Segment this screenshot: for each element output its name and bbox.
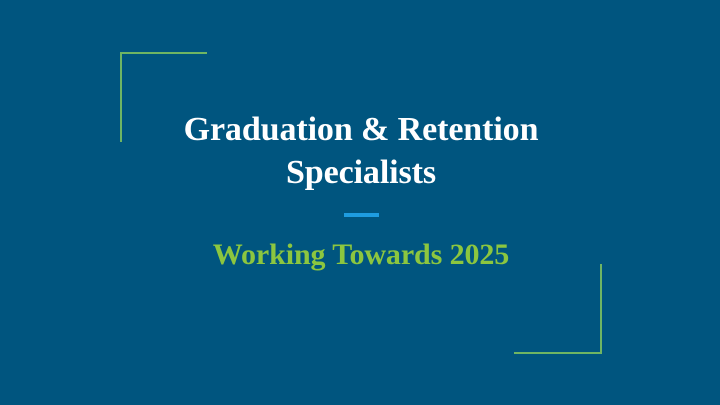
page-subtitle: Working Towards 2025 bbox=[140, 236, 582, 274]
title-slide: Graduation & Retention Specialists Worki… bbox=[0, 0, 720, 405]
corner-bracket-bottom-right-icon bbox=[514, 264, 602, 354]
page-title: Graduation & Retention Specialists bbox=[140, 108, 582, 194]
divider-dash-icon bbox=[344, 213, 379, 217]
slide-text-block: Graduation & Retention Specialists Worki… bbox=[140, 108, 582, 274]
divider-row bbox=[140, 194, 582, 236]
